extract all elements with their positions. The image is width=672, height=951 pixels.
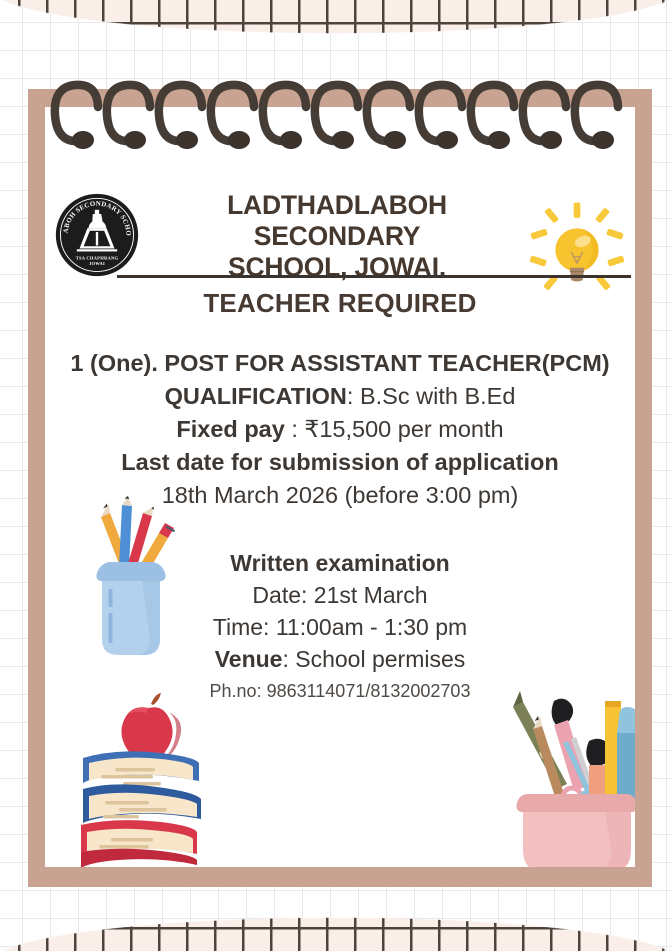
book-middle-blue bbox=[83, 784, 201, 823]
last-date-label: Last date for submission of application bbox=[45, 446, 635, 479]
post-line: 1 (One). POST FOR ASSISTANT TEACHER(PCM) bbox=[45, 347, 635, 380]
poster-subtitle: TEACHER REQUIRED bbox=[45, 288, 635, 319]
post-details-block: 1 (One). POST FOR ASSISTANT TEACHER(PCM)… bbox=[45, 347, 635, 512]
svg-text:TSA CHAPHRANG: TSA CHAPHRANG bbox=[76, 256, 119, 261]
apple-icon bbox=[121, 693, 181, 761]
lightbulb-icon bbox=[529, 202, 625, 298]
poster-canvas: LADTHADLABOH SECONDARY SCHOOL, JOWAI TSA… bbox=[0, 0, 672, 951]
exam-date-value: 21st March bbox=[307, 582, 427, 608]
poster-header: LADTHADLABOH SECONDARY SCHOOL, JOWAI TSA… bbox=[45, 190, 635, 298]
qualification-line: QUALIFICATION: B.Sc with B.Ed bbox=[45, 380, 635, 413]
exam-venue-value: School permises bbox=[295, 646, 465, 672]
exam-time-label: Time: bbox=[213, 614, 270, 640]
fixed-pay-sep: : bbox=[285, 416, 305, 442]
header-divider bbox=[117, 275, 631, 278]
book-bottom-red bbox=[81, 820, 197, 867]
pencil-jar-illustration bbox=[75, 489, 187, 659]
school-name: LADTHADLABOH SECONDARY SCHOOL, JOWAI. bbox=[153, 190, 521, 283]
school-name-line2: SCHOOL, JOWAI. bbox=[153, 252, 521, 283]
blue-marker bbox=[617, 707, 635, 801]
notebook-card: LADTHADLABOH SECONDARY SCHOOL, JOWAI TSA… bbox=[28, 89, 652, 887]
exam-date-label: Date: bbox=[252, 582, 307, 608]
school-seal-logo: LADTHADLABOH SECONDARY SCHOOL, JOWAI TSA… bbox=[55, 193, 139, 277]
svg-text:JOWAI: JOWAI bbox=[89, 261, 105, 266]
qualification-label: QUALIFICATION bbox=[165, 383, 347, 409]
qualification-value: B.Sc with B.Ed bbox=[360, 383, 515, 409]
exam-venue-label: Venue bbox=[215, 646, 283, 672]
notebook-page: LADTHADLABOH SECONDARY SCHOOL, JOWAI TSA… bbox=[45, 107, 635, 867]
school-name-line1: LADTHADLABOH SECONDARY bbox=[153, 190, 521, 252]
books-with-apple-illustration bbox=[75, 692, 235, 867]
qualification-sep: : bbox=[347, 383, 360, 409]
torn-paper-strip-top bbox=[0, 0, 672, 54]
fixed-pay-line: Fixed pay : ₹15,500 per month bbox=[45, 413, 635, 446]
exam-time-value: 11:00am - 1:30 pm bbox=[269, 614, 467, 640]
exam-venue-sep: : bbox=[282, 646, 295, 672]
fixed-pay-label: Fixed pay bbox=[176, 416, 284, 442]
pen-cup-illustration bbox=[501, 685, 635, 867]
fixed-pay-value: ₹15,500 per month bbox=[304, 416, 503, 442]
torn-paper-strip-bottom bbox=[0, 897, 672, 951]
book-top-blue bbox=[83, 751, 199, 785]
